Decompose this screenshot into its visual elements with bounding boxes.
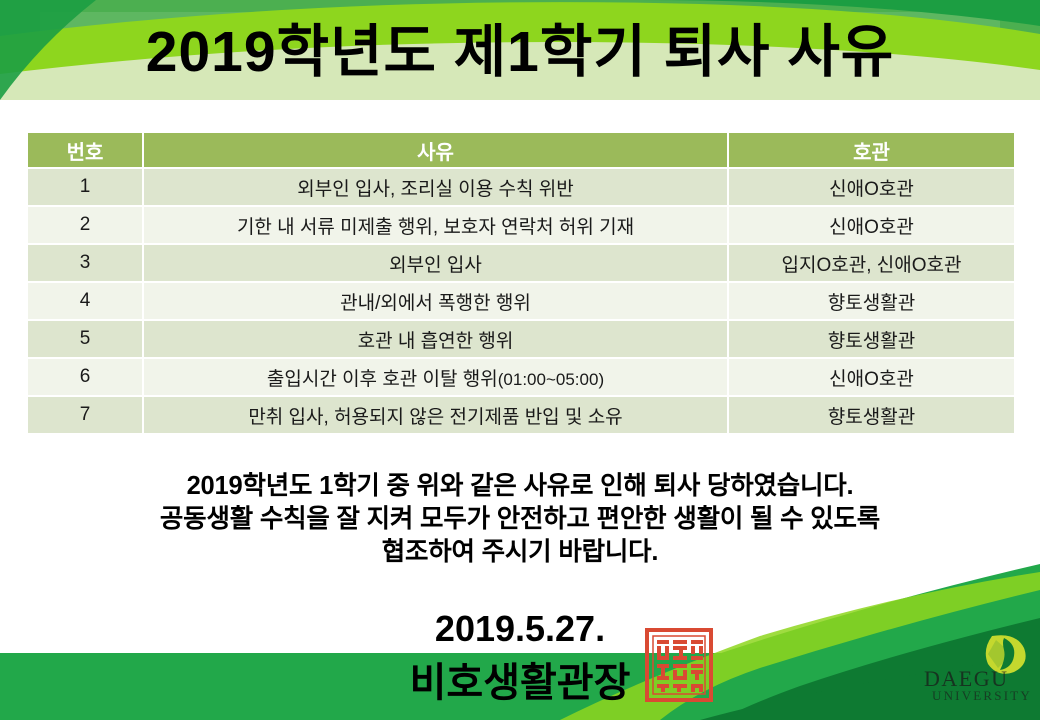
notice-message: 2019학년도 1학기 중 위와 같은 사유로 인해 퇴사 당하였습니다. 공동… — [6, 470, 1034, 569]
reasons-table-container: 번호 사유 호관 1 외부인 입사, 조리실 이용 수칙 위반 신애O호관 2 … — [26, 131, 1014, 435]
table-row: 2 기한 내 서류 미제출 행위, 보호자 연락처 허위 기재 신애O호관 — [28, 207, 1014, 243]
cell-building: 향토생활관 — [729, 321, 1014, 357]
column-header-number: 번호 — [28, 133, 142, 167]
cell-number: 6 — [28, 359, 142, 395]
cell-reason: 호관 내 흡연한 행위 — [144, 321, 727, 357]
cell-building: 향토생활관 — [729, 283, 1014, 319]
issue-date: 2019.5.27. — [0, 608, 1040, 650]
cell-number: 5 — [28, 321, 142, 357]
reason-text: 외부인 입사, 조리실 이용 수칙 위반 — [297, 179, 573, 200]
reason-text: 호관 내 흡연한 행위 — [358, 331, 514, 352]
reason-text: 만취 입사, 허용되지 않은 전기제품 반입 및 소유 — [248, 407, 622, 428]
cell-building: 신애O호관 — [729, 169, 1014, 205]
column-header-building: 호관 — [729, 133, 1014, 167]
cell-building: 향토생활관 — [729, 397, 1014, 433]
official-seal-icon — [645, 628, 713, 702]
cell-reason: 만취 입사, 허용되지 않은 전기제품 반입 및 소유 — [144, 397, 727, 433]
table-row: 1 외부인 입사, 조리실 이용 수칙 위반 신애O호관 — [28, 169, 1014, 205]
signature-title: 비호생활관장 — [0, 650, 1040, 708]
table-row: 3 외부인 입사 입지O호관, 신애O호관 — [28, 245, 1014, 281]
table-row: 7 만취 입사, 허용되지 않은 전기제품 반입 및 소유 향토생활관 — [28, 397, 1014, 433]
notice-poster: 2019학년도 제1학기 퇴사 사유 번호 사유 호관 1 외부인 입사, 조리… — [0, 0, 1040, 720]
reason-text: 출입시간 이후 호관 이탈 행위 — [267, 369, 498, 390]
reasons-table: 번호 사유 호관 1 외부인 입사, 조리실 이용 수칙 위반 신애O호관 2 … — [26, 131, 1016, 435]
cell-reason: 출입시간 이후 호관 이탈 행위(01:00~05:00) — [144, 359, 727, 395]
cell-building: 신애O호관 — [729, 359, 1014, 395]
cell-reason: 기한 내 서류 미제출 행위, 보호자 연락처 허위 기재 — [144, 207, 727, 243]
message-line-2: 공동생활 수칙을 잘 지켜 모두가 안전하고 편안한 생활이 될 수 있도록 — [6, 503, 1034, 536]
cell-number: 7 — [28, 397, 142, 433]
reason-text: 외부인 입사 — [389, 255, 482, 276]
logo-text-sub: UNIVERSITY — [932, 688, 1030, 703]
column-header-reason: 사유 — [144, 133, 727, 167]
cell-reason: 외부인 입사, 조리실 이용 수칙 위반 — [144, 169, 727, 205]
page-title: 2019학년도 제1학기 퇴사 사유 — [0, 18, 1040, 86]
header-under-strip — [0, 100, 1040, 118]
message-line-3: 협조하여 주시기 바랍니다. — [6, 536, 1034, 569]
daegu-university-logo: DAEGU UNIVERSITY — [918, 632, 1030, 704]
table-row: 5 호관 내 흡연한 행위 향토생활관 — [28, 321, 1014, 357]
cell-number: 4 — [28, 283, 142, 319]
cell-number: 3 — [28, 245, 142, 281]
table-row: 6 출입시간 이후 호관 이탈 행위(01:00~05:00) 신애O호관 — [28, 359, 1014, 395]
message-line-1: 2019학년도 1학기 중 위와 같은 사유로 인해 퇴사 당하였습니다. — [6, 470, 1034, 503]
reason-text: 기한 내 서류 미제출 행위, 보호자 연락처 허위 기재 — [237, 217, 634, 238]
cell-building: 신애O호관 — [729, 207, 1014, 243]
reason-text: 관내/외에서 폭행한 행위 — [340, 293, 531, 314]
table-header-row: 번호 사유 호관 — [28, 133, 1014, 167]
cell-number: 1 — [28, 169, 142, 205]
table-row: 4 관내/외에서 폭행한 행위 향토생활관 — [28, 283, 1014, 319]
reason-note: (01:00~05:00) — [498, 370, 604, 389]
cell-number: 2 — [28, 207, 142, 243]
cell-reason: 관내/외에서 폭행한 행위 — [144, 283, 727, 319]
cell-reason: 외부인 입사 — [144, 245, 727, 281]
cell-building: 입지O호관, 신애O호관 — [729, 245, 1014, 281]
